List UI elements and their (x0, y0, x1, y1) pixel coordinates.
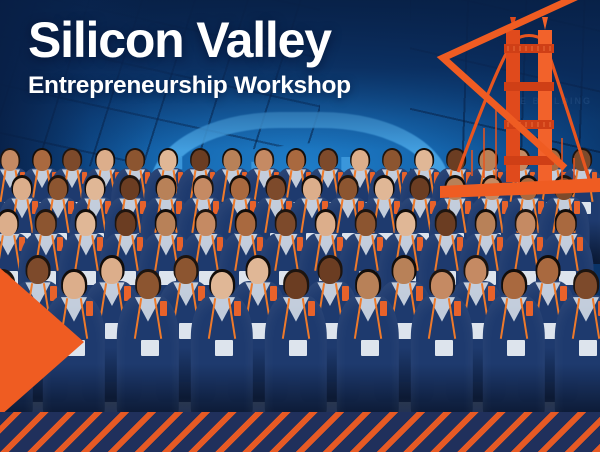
person (483, 272, 545, 424)
person-head (476, 212, 495, 236)
illinois-i-logo (86, 301, 93, 317)
person-head (556, 212, 575, 236)
person-head (86, 178, 104, 200)
person-head (13, 178, 31, 200)
diagonal-stripe-band (0, 412, 600, 452)
person-badge (215, 340, 234, 356)
person-head (116, 212, 135, 236)
person (337, 272, 399, 424)
person (265, 272, 327, 424)
illinois-i-logo (308, 301, 315, 317)
person-badge (579, 340, 598, 356)
person-head (375, 178, 393, 200)
illinois-i-logo (454, 301, 461, 317)
person-head (137, 272, 159, 299)
person-head (384, 150, 401, 171)
person-head (431, 272, 453, 299)
person-head (224, 150, 241, 171)
illinois-i-logo (526, 301, 533, 317)
person-head (160, 150, 177, 171)
arrow-right-icon (0, 268, 84, 416)
person-head (303, 178, 321, 200)
person-head (285, 272, 307, 299)
person-head (396, 212, 415, 236)
person-head (49, 178, 67, 200)
person-head (356, 212, 375, 236)
person-badge (435, 340, 454, 356)
person-head (156, 212, 175, 236)
illinois-i-logo (577, 237, 583, 251)
chevron-left-outline-icon (435, 0, 600, 171)
person-head (288, 150, 305, 171)
person-head (0, 212, 18, 236)
person-head (256, 150, 273, 171)
person-head (36, 212, 55, 236)
page-title: Silicon Valley (28, 16, 351, 65)
person-head (503, 272, 525, 299)
person-head (211, 272, 233, 299)
person (411, 272, 473, 424)
person-head (267, 178, 285, 200)
person-badge (141, 340, 160, 356)
person-badge (361, 340, 380, 356)
title-block: Silicon Valley Entrepreneurship Workshop (28, 16, 351, 99)
person-head (575, 272, 597, 299)
person-head (194, 178, 212, 200)
illinois-i-logo (160, 301, 167, 317)
person-head (352, 150, 369, 171)
person-head (339, 178, 357, 200)
person-head (196, 212, 215, 236)
person (117, 272, 179, 424)
person-head (436, 212, 455, 236)
person-head (127, 150, 144, 171)
person-head (121, 178, 139, 200)
person-head (316, 212, 335, 236)
poster: intel RE BUILDING Silicon Valley Entrepr… (0, 0, 600, 452)
person (191, 272, 253, 424)
person-badge (507, 340, 526, 356)
person-head (416, 150, 433, 171)
person (555, 272, 600, 424)
person-head (157, 178, 175, 200)
page-subtitle: Entrepreneurship Workshop (28, 73, 351, 99)
person-badge (289, 340, 308, 356)
person-head (516, 212, 535, 236)
person-head (192, 150, 209, 171)
person-head (236, 212, 255, 236)
person-head (64, 150, 81, 171)
person-head (320, 150, 337, 171)
illinois-i-logo (380, 301, 387, 317)
person-head (76, 212, 95, 236)
person-head (231, 178, 249, 200)
illinois-i-logo (234, 301, 241, 317)
person-head (357, 272, 379, 299)
person-head (411, 178, 429, 200)
person-head (276, 212, 295, 236)
person-head (2, 150, 19, 171)
